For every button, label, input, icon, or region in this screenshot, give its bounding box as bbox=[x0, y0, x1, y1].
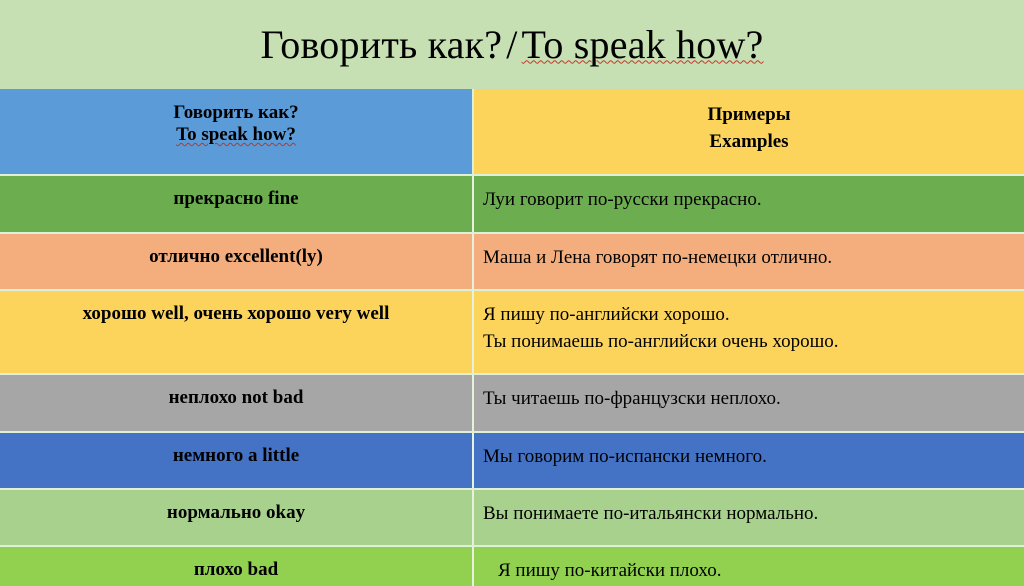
table-cell-examples: Маша и Лена говорят по-немецки отлично. bbox=[472, 234, 1024, 289]
table-cell-examples: Мы говорим по-испански немного. bbox=[472, 433, 1024, 488]
table-row: хорошо well, очень хорошо very wellЯ пиш… bbox=[0, 291, 1024, 375]
table-cell-examples: Луи говорит по-русски прекрасно. bbox=[472, 176, 1024, 232]
table-header-examples-english: Examples bbox=[474, 129, 1024, 156]
table-cell-term: немного a little bbox=[0, 433, 472, 488]
term-text: немного a little bbox=[173, 445, 299, 467]
table-header-row: Говорить как?To speak how?ПримерыExample… bbox=[0, 89, 1024, 176]
table-cell-term: хорошо well, очень хорошо very well bbox=[0, 291, 472, 373]
table-row: прекрасно fineЛуи говорит по-русски прек… bbox=[0, 176, 1024, 234]
table-row: плохо badЯ пишу по-китайски плохо. bbox=[0, 547, 1024, 586]
example-line: Луи говорит по-русски прекрасно. bbox=[483, 187, 762, 214]
table-cell-examples: Я пишу по-китайски плохо. bbox=[472, 547, 1024, 586]
table-cell-term: неплохо not bad bbox=[0, 375, 472, 431]
page-title-separator: / bbox=[502, 24, 521, 66]
table-header-term-russian: Говорить как? bbox=[0, 102, 472, 124]
table-cell-examples: Я пишу по-английски хорошо.Ты понимаешь … bbox=[472, 291, 1024, 373]
term-text: неплохо not bad bbox=[169, 387, 304, 409]
example-line: Ты понимаешь по-английски очень хорошо. bbox=[483, 329, 839, 356]
table-cell-term: нормально okay bbox=[0, 490, 472, 545]
table-header-cell-examples: ПримерыExamples bbox=[472, 89, 1024, 174]
page-title: Говорить как? / To speak how? bbox=[0, 0, 1024, 89]
example-line: Я пишу по-китайски плохо. bbox=[498, 558, 721, 585]
table-header-cell-term: Говорить как?To speak how? bbox=[0, 89, 472, 174]
term-text: прекрасно fine bbox=[173, 188, 298, 210]
table-cell-term: отлично excellent(ly) bbox=[0, 234, 472, 289]
table-header-term-english: To speak how? bbox=[0, 124, 472, 146]
example-line: Маша и Лена говорят по-немецки отлично. bbox=[483, 245, 832, 272]
slide: Говорить как? / To speak how? Говорить к… bbox=[0, 0, 1024, 586]
example-line: Мы говорим по-испански немного. bbox=[483, 444, 767, 471]
table-row: неплохо not badТы читаешь по-французски … bbox=[0, 375, 1024, 433]
term-text: отлично excellent(ly) bbox=[149, 246, 323, 268]
table-cell-term: плохо bad bbox=[0, 547, 472, 586]
table-row: отлично excellent(ly)Маша и Лена говорят… bbox=[0, 234, 1024, 291]
table-cell-term: прекрасно fine bbox=[0, 176, 472, 232]
table-cell-examples: Ты читаешь по-французски неплохо. bbox=[472, 375, 1024, 431]
term-text: нормально okay bbox=[167, 502, 305, 524]
term-text: хорошо well, очень хорошо very well bbox=[83, 303, 390, 325]
table-cell-examples: Вы понимаете по-итальянски нормально. bbox=[472, 490, 1024, 545]
page-title-russian: Говорить как? bbox=[260, 24, 502, 66]
example-line: Вы понимаете по-итальянски нормально. bbox=[483, 501, 818, 528]
table-row: немного a littleМы говорим по-испански н… bbox=[0, 433, 1024, 490]
example-line: Ты читаешь по-французски неплохо. bbox=[483, 386, 781, 413]
table-header-examples-russian: Примеры bbox=[474, 102, 1024, 129]
page-title-english: To speak how? bbox=[522, 24, 764, 66]
table-header-term-english-text: To speak how? bbox=[176, 124, 296, 145]
term-text: плохо bad bbox=[194, 559, 278, 581]
table-row: нормально okayВы понимаете по-итальянски… bbox=[0, 490, 1024, 547]
vocabulary-table: Говорить как?To speak how?ПримерыExample… bbox=[0, 89, 1024, 586]
example-line: Я пишу по-английски хорошо. bbox=[483, 302, 730, 329]
